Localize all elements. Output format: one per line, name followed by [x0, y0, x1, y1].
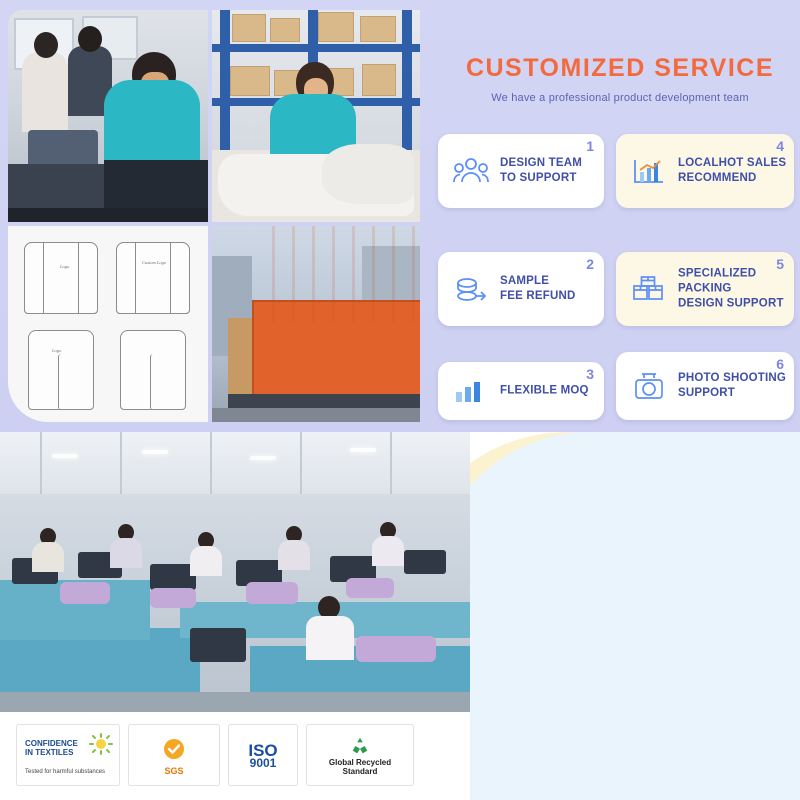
card-label: SPECIALIZED PACKING DESIGN SUPPORT	[678, 267, 794, 312]
cert-line2: 9001	[250, 756, 277, 770]
boxes-icon	[630, 270, 668, 308]
customized-service-subtitle: We have a professional product developme…	[440, 92, 800, 104]
photo-warehouse-packing	[212, 10, 420, 222]
iso-9001-certificate: ISO 9001	[228, 724, 298, 786]
sgs-certificate: SGS	[128, 724, 220, 786]
card-line2: SUPPORT	[678, 387, 735, 399]
card-number: 1	[586, 138, 594, 154]
bar-chart-icon	[452, 372, 490, 410]
card-line1: LOCALHOT SALES	[678, 157, 786, 169]
camera-icon	[630, 367, 668, 405]
card-label: FLEXIBLE MOQ	[500, 384, 589, 399]
card-line1: SPECIALIZED PACKING	[678, 268, 756, 295]
card-line1: DESIGN TEAM	[500, 157, 582, 169]
global-recycled-standard-certificate: Global Recycled Standard	[306, 724, 414, 786]
card-number: 3	[586, 366, 594, 382]
cert-line1: Global Recycled	[329, 758, 391, 767]
customized-service-title: CUSTOMIZED SERVICE	[452, 54, 788, 83]
service-card-photo-shooting[interactable]: 6 PHOTO SHOOTING SUPPORT	[616, 352, 794, 420]
cert-line3: Tested for harmful substances	[25, 769, 105, 775]
coins-refund-icon	[452, 270, 490, 308]
card-line1: PHOTO SHOOTING	[678, 372, 786, 384]
photo-garment-tech-sketches: Custom Logo Logo Logo	[8, 226, 208, 422]
card-number: 2	[586, 256, 594, 272]
card-number: 6	[776, 356, 784, 372]
cert-line1: CONFIDENCE	[25, 739, 78, 748]
blue-wedge-decor	[430, 432, 800, 800]
card-line2: RECOMMEND	[678, 172, 756, 184]
card-number: 4	[776, 138, 784, 154]
service-card-design-team[interactable]: 1 DESIGN TEAM TO SUPPORT	[438, 134, 604, 208]
card-line1: SAMPLE	[500, 275, 549, 287]
card-line2: TO SUPPORT	[500, 172, 577, 184]
service-card-localhot-sales[interactable]: 4 LOCALHOT SALES RECOMMEND	[616, 134, 794, 208]
poster-root: Custom Logo Logo Logo	[0, 0, 800, 800]
card-line1: FLEXIBLE MOQ	[500, 385, 589, 397]
photo-container-loading	[212, 226, 420, 422]
card-label: LOCALHOT SALES RECOMMEND	[678, 156, 786, 186]
card-label: PHOTO SHOOTING SUPPORT	[678, 371, 786, 401]
top-section: Custom Logo Logo Logo	[0, 0, 800, 432]
service-card-specialized-packing[interactable]: 5 SPECIALIZED PACKING DESIGN SUPPORT	[616, 252, 794, 326]
photo-sewing-workshop	[8, 10, 208, 222]
service-card-sample-fee-refund[interactable]: 2 SAMPLE FEE REFUND	[438, 252, 604, 326]
cert-line1: SGS	[164, 766, 183, 776]
card-label: DESIGN TEAM TO SUPPORT	[500, 156, 582, 186]
growth-chart-icon	[630, 152, 668, 190]
service-card-flexible-moq[interactable]: 3 FLEXIBLE MOQ	[438, 362, 604, 420]
card-label: SAMPLE FEE REFUND	[500, 274, 575, 304]
cert-line2: Standard	[343, 767, 378, 776]
card-line2: FEE REFUND	[500, 290, 575, 302]
oeko-tex-certificate: CONFIDENCE IN TEXTILES Tested for harmfu…	[16, 724, 120, 786]
card-line2: DESIGN SUPPORT	[678, 298, 784, 310]
photo-factory-production-line	[0, 432, 470, 722]
cert-line2: IN TEXTILES	[25, 748, 73, 757]
people-group-icon	[452, 152, 490, 190]
